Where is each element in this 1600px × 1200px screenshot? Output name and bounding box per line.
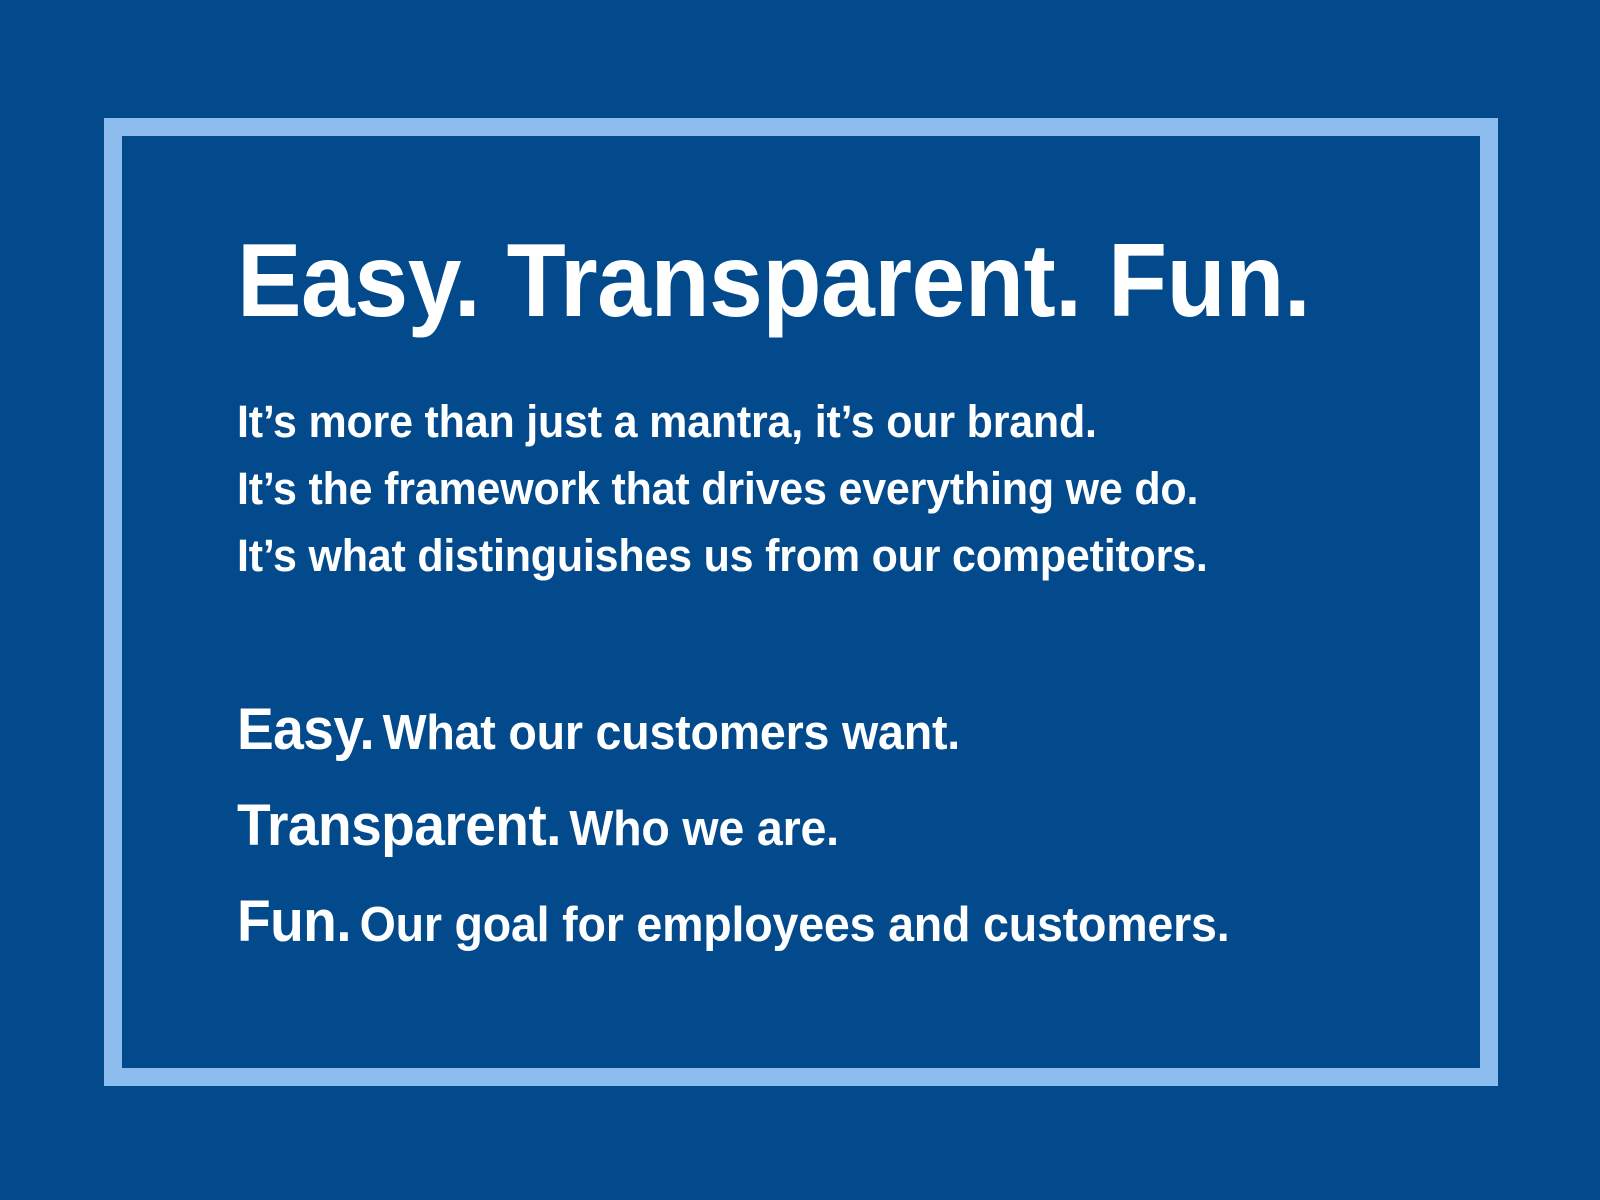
intro-line-2: It’s the framework that drives everythin…: [237, 455, 1364, 522]
list-item: Fun.Our goal for employees and customers…: [237, 881, 1358, 977]
intro-paragraph: It’s more than just a mantra, it’s our b…: [237, 388, 1364, 589]
slide-canvas: Easy. Transparent. Fun. It’s more than j…: [0, 0, 1600, 1200]
definition-term-fun: Fun.: [237, 889, 351, 954]
intro-line-3: It’s what distinguishes us from our comp…: [237, 522, 1364, 589]
list-item: Easy.What our customers want.: [237, 689, 1358, 785]
definition-list: Easy.What our customers want. Transparen…: [237, 689, 1417, 977]
intro-line-1: It’s more than just a mantra, it’s our b…: [237, 388, 1364, 455]
definition-term-transparent: Transparent.: [237, 793, 561, 858]
definition-description-easy: What our customers want.: [374, 706, 960, 760]
slide-content: Easy. Transparent. Fun. It’s more than j…: [237, 226, 1417, 977]
headline-spacer: [237, 336, 1417, 388]
list-item: Transparent.Who we are.: [237, 785, 1358, 881]
definition-term-easy: Easy.: [237, 697, 374, 762]
section-gap: [237, 589, 1417, 689]
definition-description-fun: Our goal for employees and customers.: [351, 898, 1229, 952]
page-title: Easy. Transparent. Fun.: [237, 226, 1334, 336]
definition-description-transparent: Who we are.: [561, 802, 839, 856]
